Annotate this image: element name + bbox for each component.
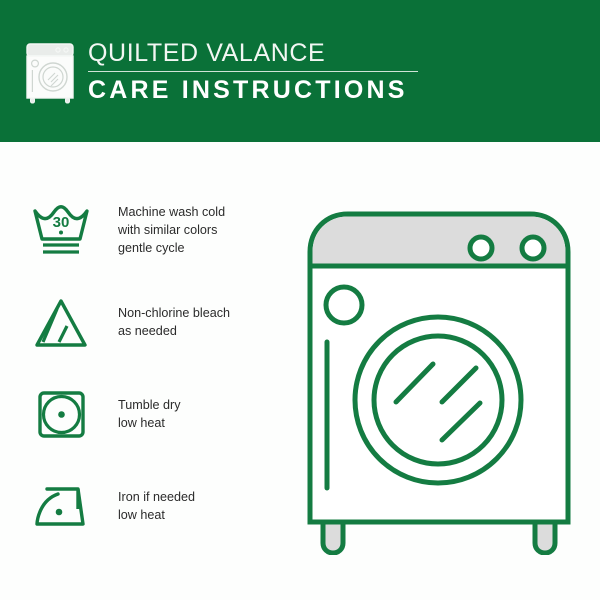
header-banner: QUILTED VALANCE CARE INSTRUCTIONS [0,0,600,142]
machine-door-inner-ring [374,336,502,464]
care-row-iron: Iron if needed low heat [24,461,279,553]
tumble-dry-low-symbol [24,387,98,443]
care-line: Non-chlorine bleach [118,305,230,323]
care-line: with similar colors [118,222,225,240]
iron-low-heat-symbol [24,479,98,535]
care-instructions-infographic: QUILTED VALANCE CARE INSTRUCTIONS 30 Mac… [0,0,600,600]
front-load-washing-machine-illustration [296,200,582,555]
care-line: as needed [118,323,230,341]
non-chlorine-bleach-symbol [24,295,98,351]
machine-leg-right [535,522,555,553]
care-text-tumble-dry: Tumble dry low heat [118,397,181,433]
machine-wash-30-gentle-symbol: 30 [24,203,98,259]
care-line: Machine wash cold [118,204,225,222]
care-line: Iron if needed [118,489,195,507]
machine-knob-right-icon [522,237,544,259]
care-line: low heat [118,507,195,525]
care-text-bleach: Non-chlorine bleach as needed [118,305,230,341]
care-row-bleach: Non-chlorine bleach as needed [24,277,279,369]
care-line: gentle cycle [118,240,225,258]
machine-leg-left [323,522,343,553]
machine-knob-left-icon [470,237,492,259]
title-divider [88,71,418,72]
care-text-machine-wash: Machine wash cold with similar colors ge… [118,204,225,258]
care-instruction-list: 30 Machine wash cold with similar colors… [24,185,279,553]
page-subtitle: CARE INSTRUCTIONS [88,77,518,103]
care-line: Tumble dry [118,397,181,415]
care-text-iron: Iron if needed low heat [118,489,195,525]
care-line: low heat [118,415,181,433]
detergent-dispenser-icon [326,287,362,323]
header-title-group: QUILTED VALANCE CARE INSTRUCTIONS [88,40,518,104]
wash-temperature-label: 30 [53,214,70,231]
care-row-machine-wash: 30 Machine wash cold with similar colors… [24,185,279,277]
washing-machine-logo-icon [24,42,76,104]
care-row-tumble-dry: Tumble dry low heat [24,369,279,461]
page-title: QUILTED VALANCE [88,40,518,66]
